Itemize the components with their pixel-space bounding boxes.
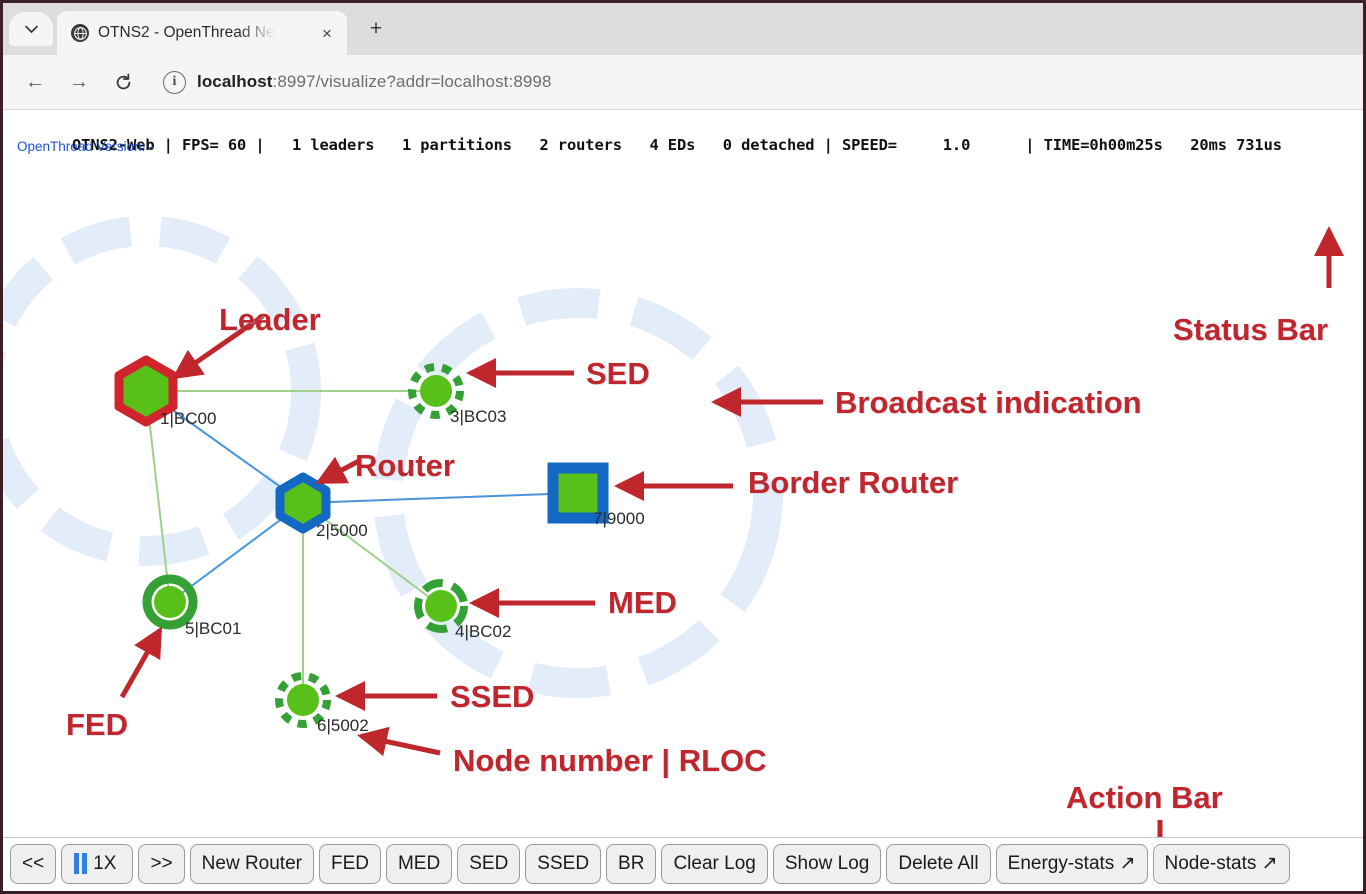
chevron-down-icon (25, 21, 38, 38)
add-ssed-button[interactable]: SSED (525, 844, 601, 884)
pause-icon (74, 853, 87, 874)
browser-tab[interactable]: OTNS2 - OpenThread Ne × (57, 11, 347, 55)
browser-window: OTNS2 - OpenThread Ne × + ← → i localhos… (0, 0, 1366, 894)
action-bar: << 1X >> New Router FED MED SED SSED BR … (3, 837, 1363, 889)
node-label: 4|BC02 (455, 622, 511, 641)
annotation-sed: SED (586, 356, 650, 392)
status-bar: OTNS2-Web | FPS= 60 | 1 leaders 1 partit… (3, 110, 1363, 190)
node-label: 3|BC03 (450, 407, 506, 426)
annotation-leader: Leader (219, 302, 321, 338)
node-6-ssed[interactable]: 6|5002 (279, 676, 369, 735)
link-2-7 (303, 493, 578, 503)
tab-strip: OTNS2 - OpenThread Ne × + (3, 3, 1363, 55)
otns-visualizer-page: 1|BC00 2|5000 7|9000 3|BC03 (3, 110, 1363, 889)
network-links (146, 391, 578, 700)
annotation-border-router: Border Router (748, 465, 958, 501)
annotation-router: Router (355, 448, 455, 484)
step-forward-button[interactable]: >> (138, 844, 184, 884)
annotation-broadcast: Broadcast indication (835, 385, 1142, 421)
annotation-med: MED (608, 585, 677, 621)
arrow-router (319, 461, 359, 482)
url-bar: ← → i localhost:8997/visualize?addr=loca… (3, 55, 1363, 110)
close-icon[interactable]: × (317, 25, 337, 42)
node-5-fed[interactable]: 5|BC01 (147, 579, 241, 638)
show-log-button[interactable]: Show Log (773, 844, 882, 884)
node-label: 2|5000 (316, 521, 368, 540)
node-1-leader[interactable]: 1|BC00 (119, 360, 216, 428)
tab-list-button[interactable] (9, 12, 53, 46)
arrow-fed (122, 630, 160, 697)
delete-all-button[interactable]: Delete All (886, 844, 990, 884)
annotation-ssed: SSED (450, 679, 534, 715)
reload-icon[interactable] (105, 64, 141, 100)
arrow-node-rloc (361, 736, 440, 753)
energy-stats-button[interactable]: Energy-stats ↗ (996, 844, 1148, 884)
node-3-sed[interactable]: 3|BC03 (412, 367, 506, 426)
add-fed-button[interactable]: FED (319, 844, 381, 884)
url-text: localhost:8997/visualize?addr=localhost:… (197, 72, 552, 92)
node-2-router[interactable]: 2|5000 (280, 477, 368, 540)
node-label: 7|9000 (593, 509, 645, 528)
annotation-status-bar: Status Bar (1173, 312, 1328, 348)
node-label: 5|BC01 (185, 619, 241, 638)
back-icon[interactable]: ← (17, 64, 53, 100)
clear-log-button[interactable]: Clear Log (661, 844, 767, 884)
status-line: OTNS2-Web | FPS= 60 | 1 leaders 1 partit… (72, 136, 1282, 154)
globe-favicon-icon (71, 24, 89, 42)
node-label: 6|5002 (317, 716, 369, 735)
address-input[interactable]: i localhost:8997/visualize?addr=localhos… (149, 63, 1349, 101)
add-br-button[interactable]: BR (606, 844, 656, 884)
speed-label: 1X (93, 853, 116, 875)
annotation-node-rloc: Node number | RLOC (453, 743, 767, 779)
add-sed-button[interactable]: SED (457, 844, 520, 884)
node-7-border-router[interactable]: 7|9000 (553, 468, 645, 528)
tab-title: OTNS2 - OpenThread Ne (98, 24, 275, 42)
add-med-button[interactable]: MED (386, 844, 452, 884)
new-router-button[interactable]: New Router (190, 844, 314, 884)
openthread-version: OpenThread Version: - (17, 139, 154, 154)
url-host: localhost (197, 72, 273, 91)
step-back-button[interactable]: << (10, 844, 56, 884)
new-tab-button[interactable]: + (359, 12, 393, 46)
node-stats-button[interactable]: Node-stats ↗ (1153, 844, 1290, 884)
annotation-fed: FED (66, 707, 128, 743)
info-icon[interactable]: i (163, 71, 186, 94)
url-path: :8997/visualize?addr=localhost:8998 (273, 72, 552, 91)
forward-icon[interactable]: → (61, 64, 97, 100)
annotation-action-bar: Action Bar (1066, 780, 1223, 816)
speed-button[interactable]: 1X (61, 844, 133, 884)
node-label: 1|BC00 (160, 409, 216, 428)
